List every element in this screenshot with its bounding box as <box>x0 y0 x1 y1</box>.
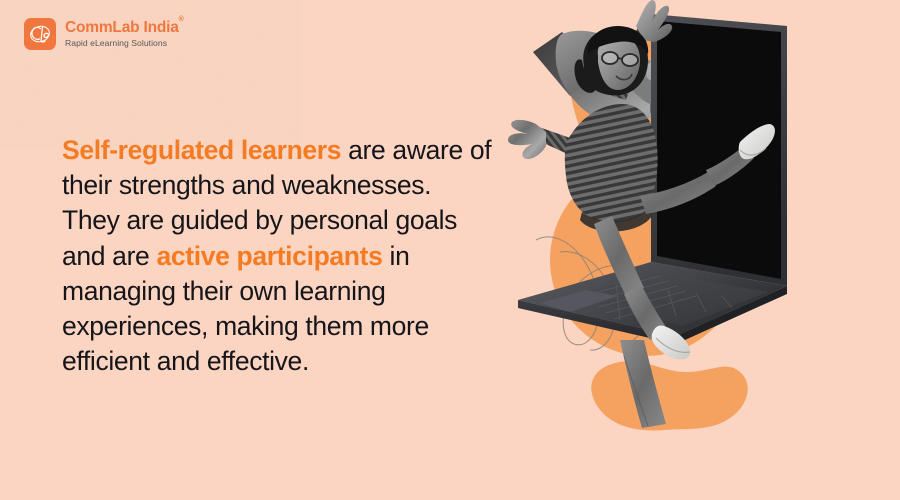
orange-blob-bottom <box>591 361 747 430</box>
headline-copy: Self-regulated learners are aware of the… <box>62 133 492 379</box>
logo-text: CommLab India® Rapid eLearning Solutions <box>65 20 184 48</box>
logo-name: CommLab India® <box>65 20 184 36</box>
copy-highlight-1: Self-regulated learners <box>62 135 341 165</box>
slide-canvas: CommLab India® Rapid eLearning Solutions… <box>0 0 900 500</box>
logo-name-text: CommLab India <box>65 19 179 36</box>
left-hand <box>508 120 546 159</box>
registered-trademark-icon: ® <box>179 16 184 23</box>
logo-tagline: Rapid eLearning Solutions <box>65 39 184 48</box>
copy-highlight-2: active participants <box>156 241 382 271</box>
commlab-cl-monogram-icon <box>24 18 56 50</box>
illustration <box>500 0 900 500</box>
logo[interactable]: CommLab India® Rapid eLearning Solutions <box>24 18 184 50</box>
